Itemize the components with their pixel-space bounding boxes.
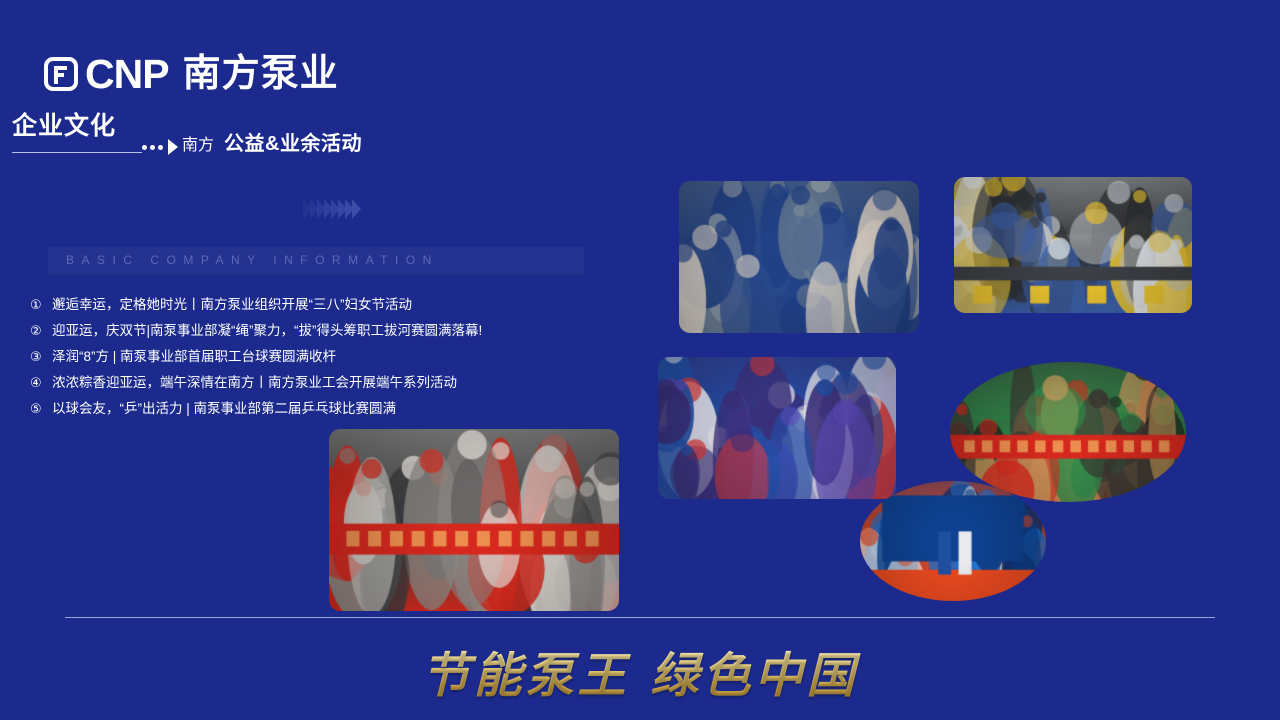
activity-text: 迎亚运，庆双节|南泵事业部凝“绳”聚力，“拔”得头筹职工拔河赛圆满落幕!	[52, 318, 482, 344]
activity-list: ①邂逅幸运，定格她时光丨南方泵业组织开展“三八”妇女节活动②迎亚运，庆双节|南泵…	[30, 292, 630, 422]
subsection-title: 公益&业余活动	[224, 134, 362, 154]
arrow-decoration	[142, 138, 178, 156]
photo-canvas	[950, 362, 1186, 502]
chevron-right-icon	[345, 199, 354, 219]
photo-award-ceremony	[860, 481, 1046, 601]
chevron-decoration	[303, 199, 359, 219]
photo-canvas	[658, 357, 896, 499]
logo-mark-bar	[54, 73, 64, 77]
activity-text: 邂逅幸运，定格她时光丨南方泵业组织开展“三八”妇女节活动	[52, 292, 412, 318]
triangle-right-icon	[168, 139, 178, 155]
activity-text: 以球会友，“乒”出活力 | 南泵事业部第二届乒乓球比赛圆满	[52, 396, 396, 422]
activity-item: ④浓浓粽香迎亚运，端午深情在南方丨南方泵业工会开展端午系列活动	[30, 370, 630, 396]
brand-small-label: 南方	[182, 138, 214, 154]
company-logo: CNP 南方泵业	[44, 50, 339, 98]
activity-number: ③	[30, 344, 52, 370]
activity-number: ④	[30, 370, 52, 396]
activity-item: ⑤以球会友，“乒”出活力 | 南泵事业部第二届乒乓球比赛圆满	[30, 396, 630, 422]
activity-text: 浓浓粽香迎亚运，端午深情在南方丨南方泵业工会开展端午系列活动	[52, 370, 457, 396]
photo-tugofwar	[679, 181, 919, 333]
photo-cooking	[954, 177, 1192, 313]
activity-item: ②迎亚运，庆双节|南泵事业部凝“绳”聚力，“拔”得头筹职工拔河赛圆满落幕!	[30, 318, 630, 344]
footer-tagline: 节能泵王 绿色中国	[0, 636, 1280, 706]
activity-number: ②	[30, 318, 52, 344]
photo-canvas	[954, 177, 1192, 313]
activity-item: ③泽润“8”方 | 南泵事业部首届职工台球赛圆满收杆	[30, 344, 630, 370]
activity-item: ①邂逅幸运，定格她时光丨南方泵业组织开展“三八”妇女节活动	[30, 292, 630, 318]
activity-number: ⑤	[30, 396, 52, 422]
section-title: 企业文化	[12, 114, 116, 139]
activity-number: ①	[30, 292, 52, 318]
cnp-logo-mark-icon	[44, 57, 78, 91]
basic-info-label: BASIC COMPANY INFORMATION	[66, 254, 439, 266]
section-title-underline	[12, 152, 142, 153]
photo-pingpong	[329, 429, 619, 611]
slide-root: CNP 南方泵业 企业文化 南方 公益&业余活动 BASIC COMPANY I…	[0, 0, 1280, 720]
photo-canvas	[860, 481, 1046, 601]
logo-text-en: CNP	[85, 54, 169, 95]
arrow-dot-3	[158, 145, 163, 150]
photo-canvas	[329, 429, 619, 611]
photo-gamenight	[658, 357, 896, 499]
logo-text-cn: 南方泵业	[183, 55, 339, 93]
activity-text: 泽润“8”方 | 南泵事业部首届职工台球赛圆满收杆	[52, 344, 336, 370]
arrow-dot-2	[150, 145, 155, 150]
bottom-divider	[65, 617, 1215, 618]
arrow-dot-1	[142, 145, 147, 150]
photo-billiards	[950, 362, 1186, 502]
photo-canvas	[679, 181, 919, 333]
